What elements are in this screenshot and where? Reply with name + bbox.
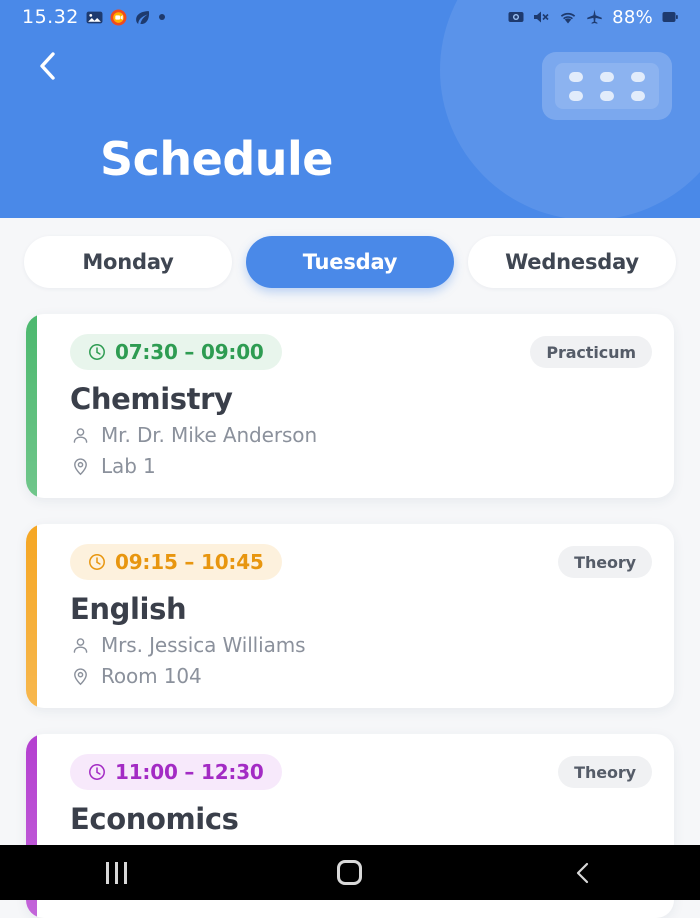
- teacher-row: Mrs. Jessica Williams: [70, 633, 652, 657]
- time-range: 07:30 – 09:00: [115, 340, 264, 364]
- wifi-icon: [559, 10, 577, 25]
- leaf-icon: [134, 9, 151, 26]
- clock-icon: [88, 553, 106, 571]
- back-button[interactable]: [26, 44, 70, 88]
- person-icon: [70, 636, 90, 655]
- card-header-row: 09:15 – 10:45 Theory: [70, 544, 652, 580]
- tab-wednesday[interactable]: Wednesday: [468, 236, 676, 288]
- room-name: Lab 1: [101, 454, 156, 478]
- time-range: 09:15 – 10:45: [115, 550, 264, 574]
- subject-title: Economics: [70, 802, 652, 836]
- android-navigation-bar: [0, 845, 700, 900]
- airplane-mode-icon: [586, 9, 603, 25]
- location-pin-icon: [70, 667, 90, 686]
- schedule-card[interactable]: 09:15 – 10:45 Theory English Mrs. Jessic…: [26, 524, 674, 708]
- calendar-grid-icon: [542, 52, 672, 120]
- mute-icon: [533, 9, 550, 25]
- grid-dot: [631, 72, 645, 82]
- subject-title: Chemistry: [70, 382, 652, 416]
- status-badge: Practicum: [530, 336, 652, 368]
- tab-monday-label: Monday: [82, 250, 173, 274]
- tab-wednesday-label: Wednesday: [505, 250, 639, 274]
- schedule-card[interactable]: 07:30 – 09:00 Practicum Chemistry Mr. Dr…: [26, 314, 674, 498]
- app-header: 15.32: [0, 0, 700, 218]
- header-toolbar: [0, 34, 700, 114]
- back-icon: [572, 860, 594, 886]
- card-accent-bar: [26, 524, 37, 708]
- status-badge: Theory: [558, 756, 652, 788]
- grid-dot: [600, 72, 614, 82]
- camera-blocked-icon: [508, 9, 524, 25]
- teacher-row: Mr. Dr. Mike Anderson: [70, 423, 652, 447]
- tab-monday[interactable]: Monday: [24, 236, 232, 288]
- room-row: Room 104: [70, 664, 652, 688]
- status-time: 15.32: [22, 6, 79, 28]
- home-icon: [337, 860, 362, 885]
- schedule-list: 07:30 – 09:00 Practicum Chemistry Mr. Dr…: [0, 302, 700, 918]
- back-nav-button[interactable]: [523, 845, 643, 900]
- battery-percent: 88%: [612, 7, 653, 28]
- time-chip: 11:00 – 12:30: [70, 754, 282, 790]
- recents-icon: [106, 862, 127, 884]
- subject-title: English: [70, 592, 652, 626]
- time-chip: 09:15 – 10:45: [70, 544, 282, 580]
- room-name: Room 104: [101, 664, 202, 688]
- screen-recorder-icon: [110, 9, 127, 26]
- grid-dot: [569, 91, 583, 101]
- battery-icon: [662, 10, 678, 24]
- status-bar-left: 15.32: [22, 6, 166, 28]
- status-bar-right: 88%: [508, 7, 678, 28]
- status-bar: 15.32: [0, 0, 700, 34]
- status-badge: Theory: [558, 546, 652, 578]
- home-button[interactable]: [290, 845, 410, 900]
- recents-button[interactable]: [57, 845, 177, 900]
- time-range: 11:00 – 12:30: [115, 760, 264, 784]
- dot-icon: [158, 13, 166, 21]
- teacher-name: Mr. Dr. Mike Anderson: [101, 423, 317, 447]
- chevron-left-icon: [35, 49, 61, 83]
- tab-tuesday[interactable]: Tuesday: [246, 236, 454, 288]
- location-pin-icon: [70, 457, 90, 476]
- grid-dot: [600, 91, 614, 101]
- grid-dot: [569, 72, 583, 82]
- card-header-row: 11:00 – 12:30 Theory: [70, 754, 652, 790]
- day-tab-bar: Monday Tuesday Wednesday: [0, 218, 700, 302]
- room-row: Lab 1: [70, 454, 652, 478]
- card-header-row: 07:30 – 09:00 Practicum: [70, 334, 652, 370]
- person-icon: [70, 426, 90, 445]
- calendar-grid-inner: [555, 63, 659, 109]
- clock-icon: [88, 343, 106, 361]
- grid-dot: [631, 91, 645, 101]
- teacher-name: Mrs. Jessica Williams: [101, 633, 305, 657]
- tab-tuesday-label: Tuesday: [303, 250, 398, 274]
- photo-icon: [86, 9, 103, 26]
- page-title: Schedule: [0, 114, 700, 186]
- time-chip: 07:30 – 09:00: [70, 334, 282, 370]
- clock-icon: [88, 763, 106, 781]
- card-accent-bar: [26, 314, 37, 498]
